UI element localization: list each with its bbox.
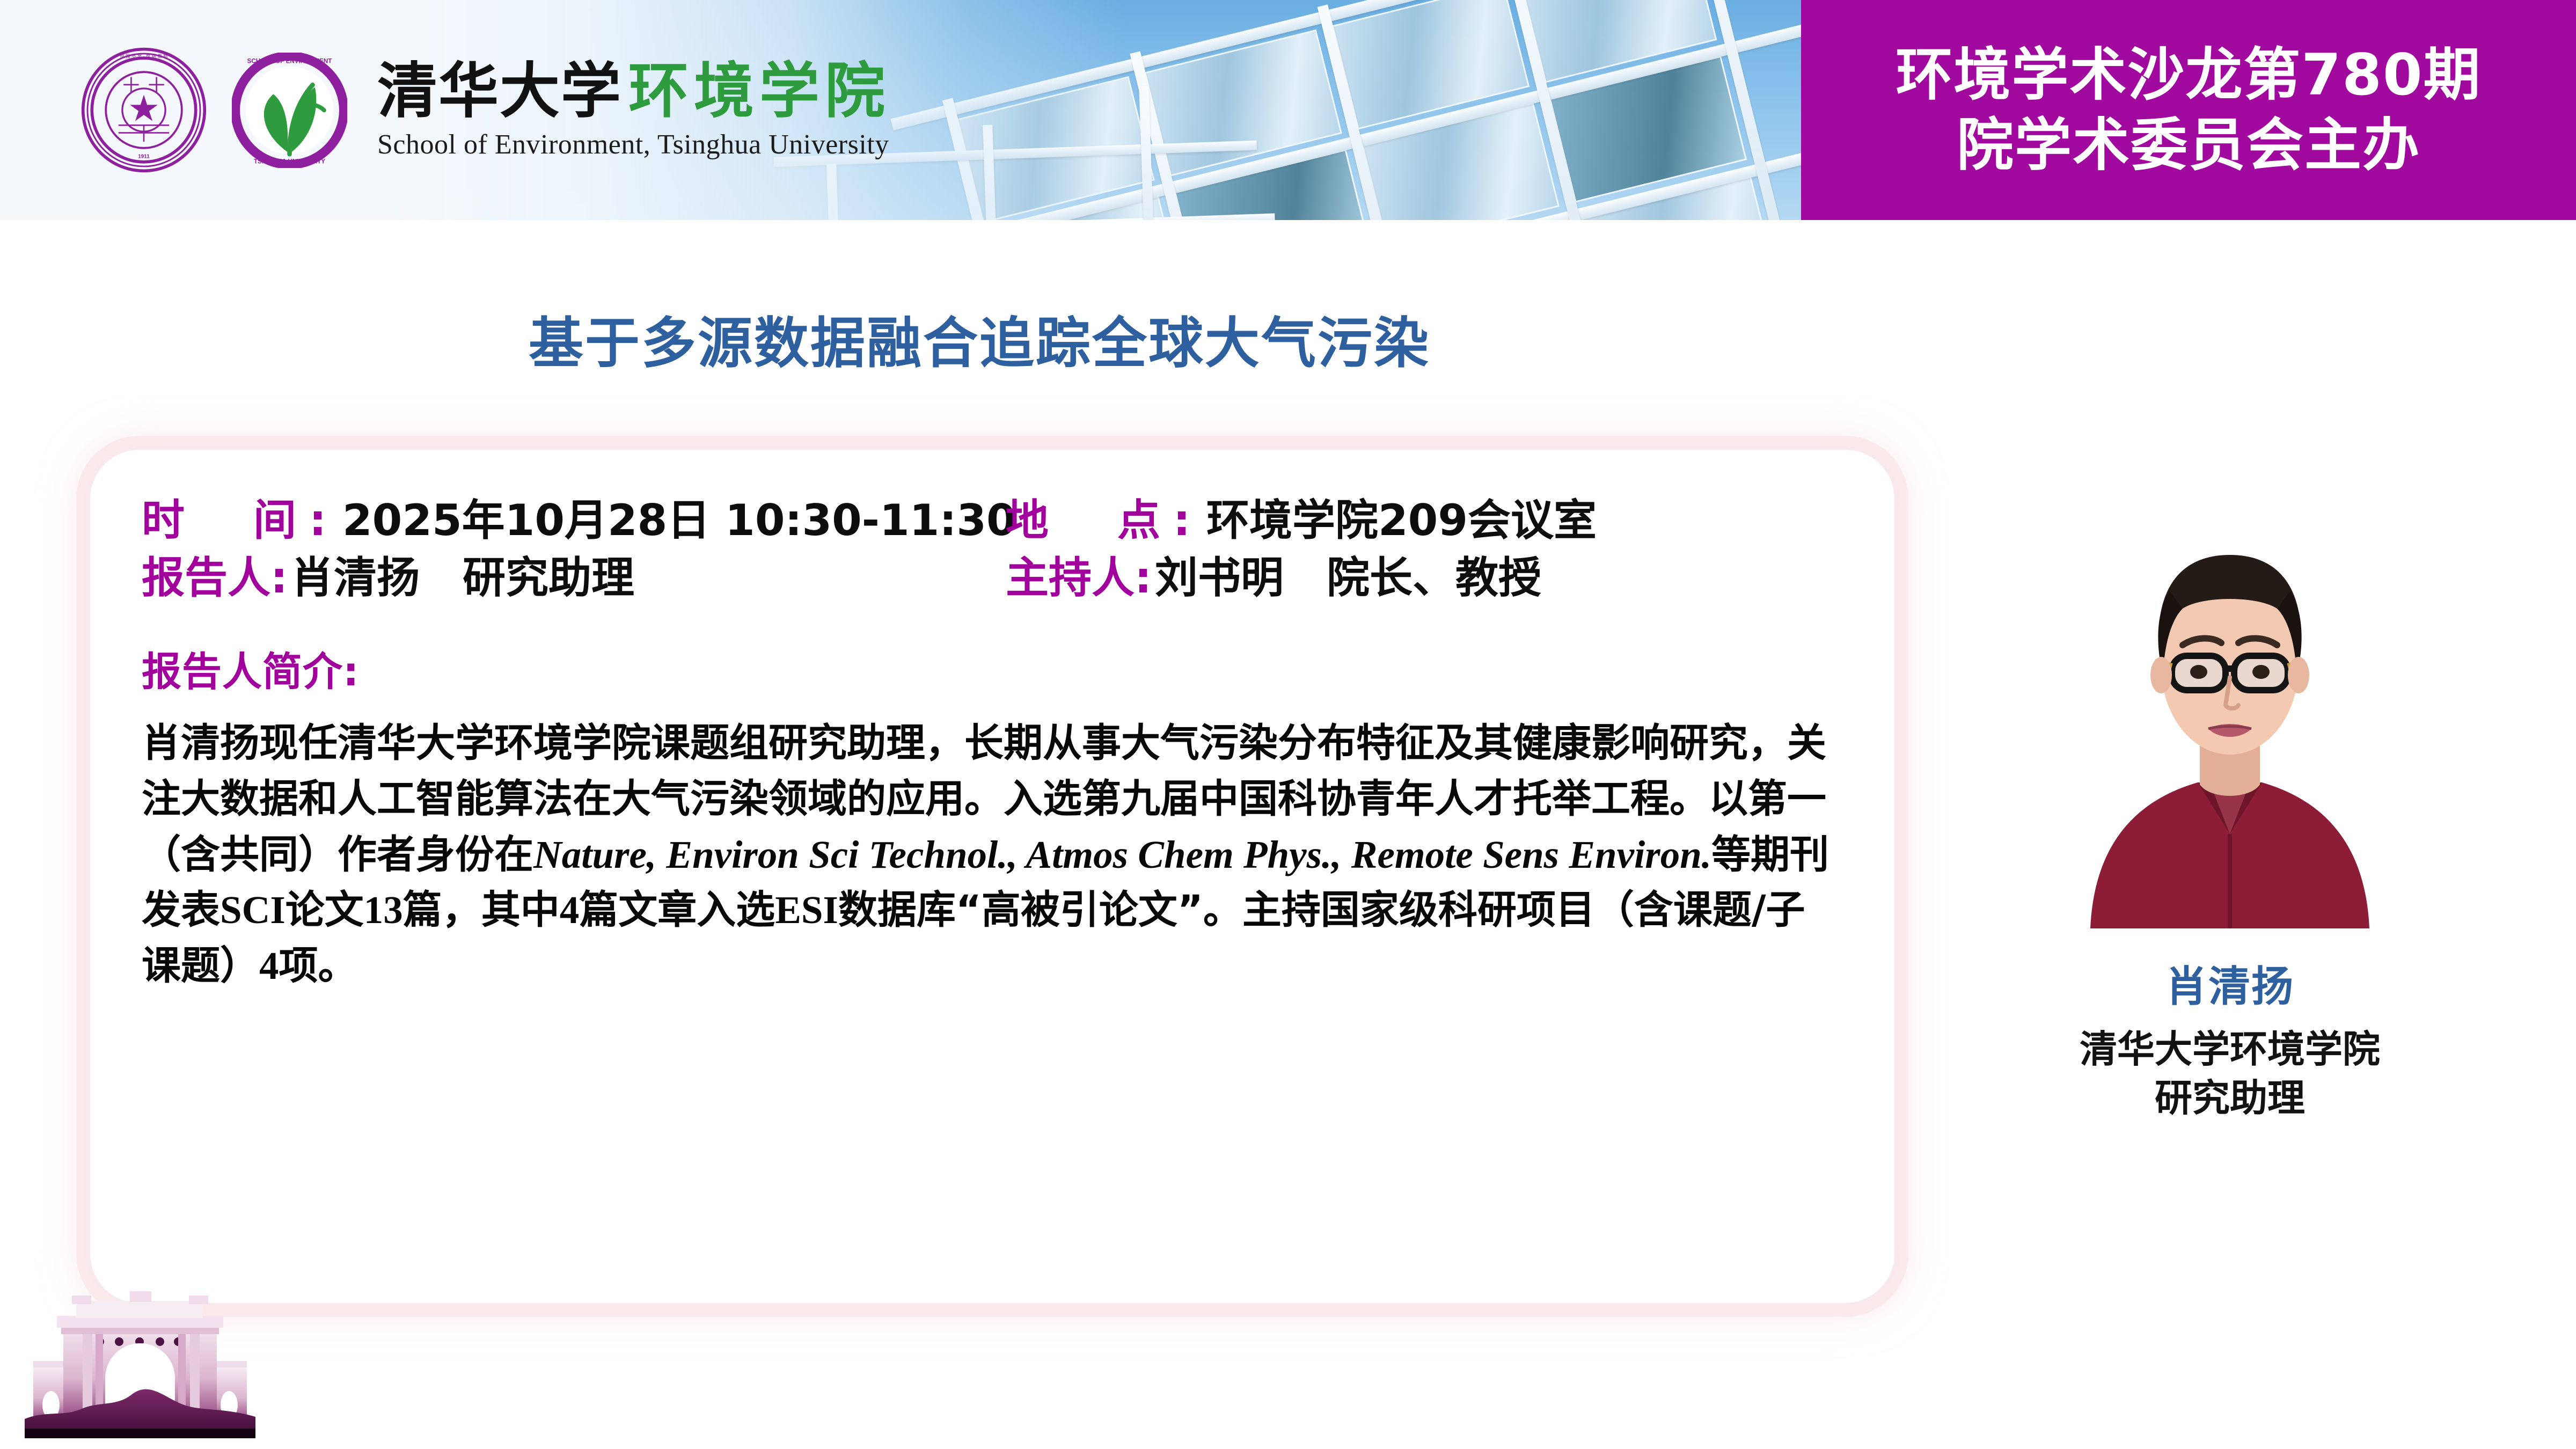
speaker-portrait-photo xyxy=(2047,456,2412,928)
host-line: 主持人:刘书明 院长、教授 xyxy=(1006,549,1800,606)
speaker-affiliation-line-2: 研究助理 xyxy=(2080,1074,2380,1123)
location-value: 环境学院209会议室 xyxy=(1206,495,1597,545)
header-building-photo: 1911 · 自 强 不 息 · 厚 德 载 物 · SCHOOL OF ENV… xyxy=(0,0,1801,220)
speaker-portrait xyxy=(2047,456,2412,928)
school-name-cn-university: 清华大学 xyxy=(377,56,622,126)
speaker-affiliation: 清华大学环境学院 研究助理 xyxy=(2080,1025,2380,1123)
banner-line-1: 环境学术沙龙第780期 xyxy=(1896,41,2481,108)
school-name-en: School of Environment, Tsinghua Universi… xyxy=(377,129,890,160)
tsinghua-university-seal-icon: 1911 · 自 强 不 息 · 厚 德 载 物 · xyxy=(80,47,207,173)
bio-paragraph: 肖清扬现任清华大学环境学院课题组研究助理，长期从事大气污染分布特征及其健康影响研… xyxy=(142,715,1843,993)
speaker-line: 报告人:肖清扬 研究助理 xyxy=(142,549,1006,606)
school-name-block: 清华大学环境学院 School of Environment, Tsinghua… xyxy=(377,60,890,160)
time-label: 时 间: xyxy=(142,495,339,545)
school-name-cn: 清华大学环境学院 xyxy=(377,60,890,123)
bio-segment: Nature, Environ Sci Technol., Atmos Chem… xyxy=(533,833,1711,876)
host-value: 刘书明 院长、教授 xyxy=(1155,553,1541,603)
speaker-block: 肖清扬 清华大学环境学院 研究助理 xyxy=(1962,456,2498,1123)
svg-text:1911: 1911 xyxy=(138,154,150,160)
meta-row-2: 报告人:肖清扬 研究助理 主持人:刘书明 院长、教授 xyxy=(142,549,1843,606)
svg-text:· 自 强 不 息 · 厚 德 载 物 ·: · 自 强 不 息 · 厚 德 载 物 · xyxy=(117,53,171,58)
school-name-cn-school: 环境学院 xyxy=(628,56,890,126)
school-of-environment-leaf-icon: SCHOOL OF ENVIRONMENT TSINGHUA UNIVERSIT… xyxy=(232,53,347,168)
bio-segment: 篇，其中 xyxy=(403,887,560,933)
bio-segment: 4 xyxy=(259,944,279,987)
bio-segment: ESI xyxy=(775,888,838,932)
event-info-card: 时 间:2025年10月28日 10:30-11:30 地 点:环境学院209会… xyxy=(90,450,1894,1303)
tsinghua-second-gate-icon xyxy=(25,1283,255,1438)
event-series-banner: 环境学术沙龙第780期 院学术委员会主办 xyxy=(1801,0,2576,220)
bio-segment: 13 xyxy=(364,888,403,932)
footer-decoration xyxy=(25,1283,255,1438)
page-title: 基于多源数据融合追踪全球大气污染 xyxy=(0,299,1959,378)
page-header: 1911 · 自 强 不 息 · 厚 德 载 物 · SCHOOL OF ENV… xyxy=(0,0,2576,220)
svg-text:SCHOOL OF ENVIRONMENT: SCHOOL OF ENVIRONMENT xyxy=(247,57,332,64)
header-branding: 1911 · 自 强 不 息 · 厚 德 载 物 · SCHOOL OF ENV… xyxy=(0,0,1127,220)
bio-segment: 论文 xyxy=(286,887,364,933)
bio-segment: 篇文章入选 xyxy=(579,887,775,933)
bio-segment: SCI xyxy=(220,888,286,932)
meta-row-1: 时 间:2025年10月28日 10:30-11:30 地 点:环境学院209会… xyxy=(142,492,1843,549)
time-value: 2025年10月28日 10:30-11:30 xyxy=(342,495,1016,545)
speaker-affiliation-line-1: 清华大学环境学院 xyxy=(2080,1025,2380,1074)
speaker-name: 肖清扬 xyxy=(2165,953,2294,1013)
location-label: 地 点: xyxy=(1006,495,1203,545)
bio-segment: 项。 xyxy=(279,943,357,989)
bio-segment: 4 xyxy=(560,888,580,932)
time-line: 时 间:2025年10月28日 10:30-11:30 xyxy=(142,492,1006,549)
bio-heading: 报告人简介: xyxy=(142,640,1843,697)
speaker-value: 肖清扬 研究助理 xyxy=(291,553,634,603)
banner-line-2: 院学术委员会主办 xyxy=(1957,112,2420,179)
host-label: 主持人: xyxy=(1006,553,1152,603)
svg-text:TSINGHUA UNIVERSITY: TSINGHUA UNIVERSITY xyxy=(254,158,325,165)
speaker-label: 报告人: xyxy=(142,553,288,603)
location-line: 地 点:环境学院209会议室 xyxy=(1006,492,1800,549)
